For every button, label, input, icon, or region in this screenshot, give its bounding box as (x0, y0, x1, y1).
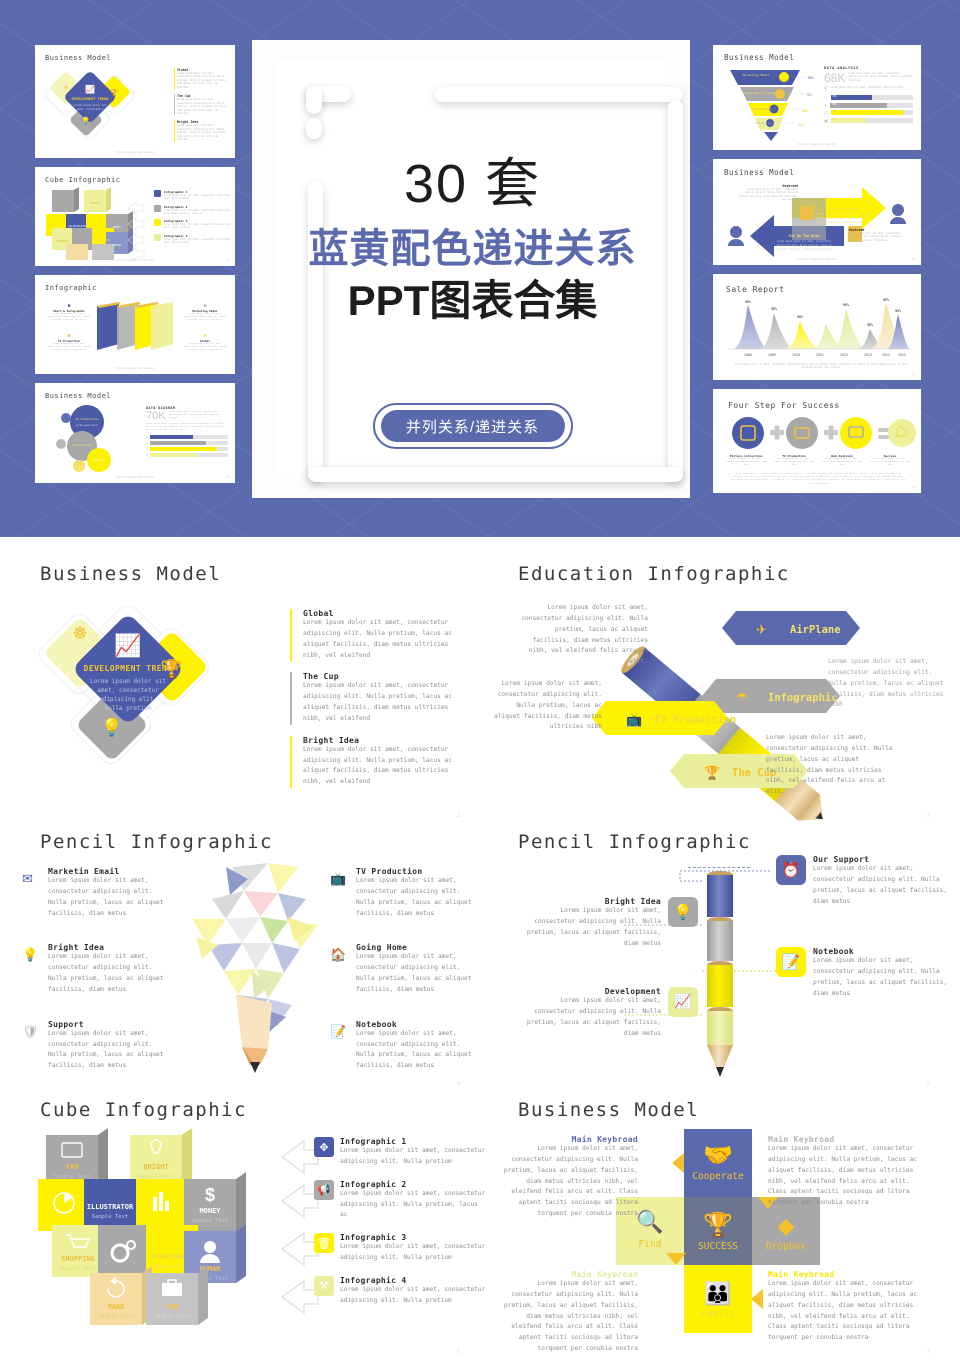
svg-text:💡: 💡 (101, 717, 122, 737)
svg-text:◆: ◆ (778, 1213, 795, 1238)
slide-title: Pencil Infographic (40, 831, 273, 853)
slide-pencil-triangles[interactable]: Pencil Infographic (18, 825, 488, 1093)
item-body: Lorem ipsum dolor sit amet, consectetur … (768, 1279, 926, 1344)
envelope-icon: ✉ (22, 871, 33, 887)
thumbnail-page-number: 2 (228, 150, 230, 154)
svg-text:40%: 40% (798, 123, 804, 127)
hero-text-block: 30 套 蓝黄配色递进关系 PPT图表合集 (275, 155, 670, 327)
bullet-item: The Cup Lorem ipsum dolor sit amet, cons… (290, 672, 455, 724)
item-head: Our Support (813, 855, 956, 864)
item-head: Bright Idea (48, 943, 172, 952)
svg-text:PHOTOSHOP: PHOTOSHOP (96, 238, 110, 242)
svg-text:📺: 📺 (626, 712, 642, 727)
quad-text-3: Main Keybroad Lorem ipsum dolor sit amet… (496, 1270, 638, 1355)
svg-text:SHOPPING: SHOPPING (57, 239, 70, 243)
svg-text:70%: 70% (806, 93, 812, 97)
svg-text:Lorem ipsum dolor sit amet, co: Lorem ipsum dolor sit amet, consectetur (817, 213, 872, 216)
slide3-right-items: 📺 TV Production Lorem ipsum dolor sit am… (330, 867, 480, 1072)
svg-text:📈: 📈 (114, 633, 141, 658)
item-head: Main Keybroad (496, 1135, 638, 1144)
thumbnail-arrows[interactable]: Business Model Put On The Note Lorem ips… (713, 159, 921, 265)
thumbnail-title: Business Model (45, 54, 111, 62)
slide-title: Education Infographic (518, 563, 790, 585)
svg-text:95%: 95% (883, 298, 889, 302)
frame-bar-right (668, 100, 683, 482)
thumbnail-page-number: 24 (912, 485, 915, 489)
svg-text:Social Media: Social Media (72, 443, 93, 447)
svg-text:TV Production: TV Production (654, 714, 736, 726)
item-head: Going Home (356, 943, 480, 952)
item-development: Development Lorem ipsum dolor sit amet, … (520, 987, 698, 1039)
slide-page-number: 6 (457, 1349, 460, 1355)
svg-text:SUCCESS: SUCCESS (698, 1241, 738, 1252)
svg-text:Sample Text: Sample Text (98, 1314, 134, 1320)
bullet-body: Lorem ipsum dolor sit amet, consectetur … (303, 681, 455, 724)
svg-text:95%: 95% (867, 323, 873, 327)
svg-text:2015: 2015 (898, 353, 906, 357)
thumbnail-column-left: Business Model DEVELOPMENT TREND Lorem i… (35, 45, 235, 492)
item-body: Lorem ipsum dolor sit amet, consectetur … (496, 1144, 638, 1220)
home-icon: 🏠 (330, 947, 346, 963)
svg-text:☸: ☸ (72, 624, 87, 643)
svg-text:2013: 2013 (864, 353, 872, 357)
item-head: Notebook (813, 947, 956, 956)
bullet-item: Bright Idea Lorem ipsum dolor sit amet, … (290, 736, 455, 788)
svg-text:SHOPPING: SHOPPING (61, 1255, 95, 1263)
slide-title: Business Model (518, 1099, 699, 1121)
svg-text:95%: 95% (745, 300, 751, 304)
item-body: Lorem ipsum dolor sit amet, consectetur … (813, 864, 956, 907)
svg-text:Support: Support (94, 458, 105, 462)
svg-text:95%: 95% (843, 303, 849, 307)
svg-text:TV Production: TV Production (752, 107, 773, 111)
svg-text:Marketing Email: Marketing Email (742, 73, 769, 77)
thumbnail-title: Sale Report (726, 285, 784, 294)
tools-icon: ⚒ (314, 1276, 334, 1296)
cube-tab-2: TAB Sample Text (146, 1266, 208, 1325)
svg-text:Sample Text: Sample Text (60, 1266, 96, 1272)
hero-pill-label: 并列关系/递进关系 (381, 410, 565, 442)
svg-text:90%: 90% (808, 76, 814, 80)
hero-line-2: 蓝黄配色递进关系 (275, 224, 670, 274)
svg-text:adipiscing elit. Nulla pretium: adipiscing elit. Nulla pretium, lacus ac (816, 217, 872, 220)
banner-text-tv: Lorem ipsum dolor sit amet, consectetur … (490, 679, 602, 733)
svg-text:2012: 2012 (840, 353, 848, 357)
thumbnail-footer: Click To Change Your Sub Title (36, 259, 234, 262)
notebook-icon: 📝 (330, 1024, 346, 1040)
hero-banner: Business Model DEVELOPMENT TREND Lorem i… (0, 0, 960, 537)
slide-page-number: 4 (457, 1081, 460, 1087)
thumbnail-footer: Click To Change Your Sub Title (714, 143, 920, 146)
slide-page-number: 2 (457, 813, 460, 819)
svg-text:✈: ✈ (756, 622, 767, 637)
item-head: Infographic 1 (340, 1137, 486, 1146)
svg-text:🤝: 🤝 (703, 1143, 733, 1169)
frame-bar-bottom (308, 467, 683, 482)
svg-text:Lorem ipsum dolor sit amet, co: Lorem ipsum dolor sit amet, consectetur (777, 240, 832, 243)
svg-text:Sample Text: Sample Text (154, 1314, 190, 1320)
svg-text:Lorem ipsum dolor sit: Lorem ipsum dolor sit (90, 678, 166, 685)
diamond-cluster-mini: DEVELOPMENT TREND Lorem ipsum dolor sit … (44, 64, 164, 149)
svg-text:MONEY: MONEY (113, 225, 121, 229)
notebook-icon: 📝 (776, 947, 806, 977)
svg-text:☀: ☀ (63, 84, 69, 92)
item-body: Lorem ipsum dolor sit amet, consectetur … (768, 1144, 926, 1209)
banner-text-airplane: Lorem ipsum dolor sit amet, consectetur … (518, 603, 648, 668)
svg-text:🏆: 🏆 (704, 765, 720, 780)
item-body: Lorem ipsum dolor sit amet, consectetur … (340, 1146, 486, 1168)
list-item: 🗑 Infographic 3 Lorem ipsum dolor sit am… (314, 1233, 486, 1264)
thumbnail-title: Infographic (45, 284, 97, 292)
four-steps-mini (726, 416, 912, 452)
svg-text:aliquet facilisis, diam metus: aliquet facilisis, diam metus ultricies (777, 248, 832, 251)
svg-text:Find: Find (639, 1239, 662, 1250)
svg-text:BRIGHT: BRIGHT (143, 1163, 168, 1171)
thumbnail-page-number: 21 (912, 372, 915, 376)
slide1-bullet-list: Global Lorem ipsum dolor sit amet, conse… (290, 609, 455, 799)
svg-text:DEVELOPMENT TREND: DEVELOPMENT TREND (72, 97, 109, 101)
hero-pill-outline[interactable]: 并列关系/递进关系 (373, 403, 573, 449)
stacked-pages-mini (91, 300, 186, 360)
item-head: Main Keybroad (768, 1270, 926, 1279)
item-body: Lorem ipsum dolor sit amet, consectetur … (48, 952, 172, 995)
item-head: Main Keybroad (768, 1135, 926, 1144)
corner-dot-icon (306, 118, 322, 139)
svg-text:adipiscing elit.: adipiscing elit. (99, 696, 157, 703)
svg-text:adipiscing elit. Nulla pretium: adipiscing elit. Nulla pretium, lacus ac (776, 244, 832, 247)
svg-text:BRIGHT: BRIGHT (90, 201, 100, 205)
thumbnail-title: Business Model (724, 168, 794, 177)
thumbnail-four-steps[interactable]: Four Step For Success Picture Collection… (713, 389, 921, 493)
svg-text:📈: 📈 (85, 84, 95, 94)
tv-icon: 📺 (330, 871, 346, 887)
svg-text:AirPlane: AirPlane (790, 624, 841, 636)
svg-text:🏆: 🏆 (110, 88, 119, 97)
thumbnail-page-number: 6 (228, 258, 230, 262)
svg-text:$: $ (205, 1185, 215, 1205)
quad-text-4: Main Keybroad Lorem ipsum dolor sit amet… (768, 1270, 926, 1344)
hero-line-3: PPT图表合集 (275, 276, 670, 326)
svg-text:amet, consectetur: amet, consectetur (97, 687, 159, 694)
thumbnail-page-number: 13 (226, 475, 229, 479)
cube-bright: BRIGHT Sample Text (130, 1128, 192, 1187)
bullet-body: Lorem ipsum dolor sit amet, consectetur … (303, 618, 455, 661)
diamond-cluster: ☸ 🏆 💡 📈 DEVELOPMENT TREND Lorem ipsum do… (36, 593, 286, 808)
thumbnail-page-number: 11 (226, 366, 229, 370)
frame-bar-top (435, 87, 683, 102)
svg-text:Family: Family (701, 1309, 736, 1320)
svg-text:Bright Idea: Bright Idea (756, 122, 772, 125)
svg-text:Dropbox: Dropbox (766, 1241, 806, 1252)
cube-grid: TAB Sample Text BRIGHT Sample Text ILLUS… (36, 1131, 266, 1341)
thumbnail-cube-infographic[interactable]: Cube Infographic TAB (35, 167, 235, 266)
item-our-support: ⏰ Our Support Lorem ipsum dolor sit amet… (776, 855, 956, 907)
svg-text:95%: 95% (797, 315, 803, 319)
svg-text:95%: 95% (895, 309, 901, 313)
list-item: 📢 Infographic 2 Lorem ipsum dolor sit am… (314, 1180, 486, 1222)
svg-text:Put On The Note: Put On The Note (829, 207, 860, 211)
thumbnail-funnel[interactable]: Business Model Marketing Email Infograph… (713, 45, 921, 150)
cube-tab-1: TAB Sample Text (46, 1128, 108, 1187)
slide5-items: ✥ Infographic 1 Lorem ipsum dolor sit am… (314, 1137, 486, 1307)
list-item: ⚒ Infographic 4 Lorem ipsum dolor sit am… (314, 1276, 486, 1307)
slide-page-number: 3 (927, 813, 930, 819)
bullet-item: Global Lorem ipsum dolor sit amet, conse… (290, 609, 455, 661)
svg-text:Infographic & Chart: Infographic & Chart (743, 91, 775, 95)
thumbnail-business-model-1[interactable]: Business Model DEVELOPMENT TREND Lorem i… (35, 45, 235, 158)
bullet-body: Lorem ipsum dolor sit amet, consectetur … (303, 745, 455, 788)
cube-illustrator: ILLUSTRATOR Sample Text (84, 1179, 136, 1231)
bulb-icon: 💡 (668, 897, 698, 927)
slides-gallery: Business Model ☸ 🏆 💡 📈 DEVELOPMENT TREND… (0, 537, 960, 1352)
slide-business-model-quadrant[interactable]: Business Model 🤝 Cooperate 🔍 Find 🏆 SUCC… (488, 1093, 958, 1361)
svg-text:TAB: TAB (61, 201, 66, 205)
stat-value: 70K (146, 411, 166, 422)
item-body: Lorem ipsum dolor sit amet, consectetur … (356, 952, 480, 995)
item-body: Lorem ipsum dolor sit amet, consectetur … (48, 1029, 172, 1072)
item-head: Infographic 2 (340, 1180, 486, 1189)
item-head: Notebook (356, 1020, 480, 1029)
item-body: Lorem ipsum dolor sit amet, consectetur … (520, 996, 661, 1039)
svg-text:Lorem ipsum dolor sit: Lorem ipsum dolor sit (74, 103, 107, 107)
slide-education-infographic[interactable]: Education Infographic ✈ Air (488, 557, 958, 825)
svg-text:Sample Text: Sample Text (192, 1218, 228, 1224)
thumbnail-footer: Click To Change Your Sub Title (36, 367, 234, 370)
circle-cluster-mini: TV Production Lorem ipsum dolor Social M… (44, 404, 136, 476)
svg-text:2014: 2014 (882, 353, 890, 357)
slide3-left-items: ✉ Marketin Email Lorem ipsum dolor sit a… (22, 867, 172, 1072)
banner-text-infographic: Lorem ipsum dolor sit amet, consectetur … (828, 657, 950, 711)
item-head: Development (520, 987, 661, 996)
thumbnail-title: Business Model (45, 392, 111, 400)
trash-icon: 🗑 (314, 1233, 334, 1253)
svg-text:ILLUSTRATOR: ILLUSTRATOR (87, 1203, 134, 1211)
svg-text:Sample Text: Sample Text (92, 1214, 128, 1220)
thumbnail-page-number: 18 (912, 257, 915, 261)
item-body: Lorem ipsum dolor sit amet, consectetur … (496, 1279, 638, 1355)
thumbnail-title: Cube Infographic (45, 176, 120, 184)
svg-text:Nulla pretium: Nulla pretium (105, 705, 152, 712)
svg-text:DEVELOPMENT TREND: DEVELOPMENT TREND (84, 664, 173, 673)
svg-text:2011: 2011 (816, 353, 824, 357)
chart-caption: Lorem ipsum dolor sit amet, consectetur … (734, 363, 908, 370)
quad-text-1: Main Keybroad Lorem ipsum dolor sit amet… (496, 1135, 638, 1220)
quad-text-2: Main Keybroad Lorem ipsum dolor sit amet… (768, 1135, 926, 1209)
thumbnail-footer: Click To Change Your Sub Title (36, 151, 234, 154)
item-head: TV Production (356, 867, 480, 876)
cube-shopping: SHOPPING Sample Text (52, 1225, 104, 1277)
svg-text:ILLUSTRATOR: ILLUSTRATOR (68, 224, 86, 228)
stat-value: 68K (824, 72, 845, 84)
svg-text:🏆: 🏆 (703, 1211, 733, 1239)
item-notebook: 📝 Notebook Lorem ipsum dolor sit amet, c… (776, 947, 956, 999)
item-head: Support (48, 1020, 172, 1029)
slide-cube-infographic[interactable]: Cube Infographic TAB Sample Text BRIGHT … (18, 1093, 488, 1361)
thumbnail-page-number: 14 (912, 142, 915, 146)
item-body: Lorem ipsum dolor sit amet, consectetur … (813, 956, 956, 999)
triangle-burst-pencil (168, 859, 348, 1064)
bulb-icon: 💡 (22, 947, 38, 963)
growth-icon: 📈 (668, 987, 698, 1017)
item-body: Lorem ipsum dolor sit amet, consectetur … (340, 1242, 486, 1264)
svg-text:💡: 💡 (82, 116, 91, 125)
svg-text:HUMAN: HUMAN (113, 243, 121, 247)
svg-text:TAB: TAB (166, 1303, 179, 1311)
spike-chart-mini: 2008200920102011 2012201320142015 95%95%… (724, 299, 912, 361)
svg-text:2009: 2009 (768, 353, 776, 357)
item-head: Infographic 3 (340, 1233, 486, 1242)
clock-icon: ⏰ (776, 855, 806, 885)
slide-pencil-vertical[interactable]: Pencil Infographic (488, 825, 958, 1093)
svg-text:Lorem ipsum dolor: Lorem ipsum dolor (76, 424, 99, 427)
thumbnail-infographic-pages[interactable]: Infographic ■ Chart & Infographic Lorem … (35, 275, 235, 374)
svg-text:Put On The Note: Put On The Note (789, 234, 820, 238)
item-body: Lorem ipsum dolor sit amet, consectetur … (340, 1285, 486, 1307)
thumbnail-title: Business Model (724, 53, 794, 62)
item-head: Bright Idea (520, 897, 661, 906)
megaphone-icon: 📢 (314, 1180, 334, 1200)
item-head: Marketin Email (48, 867, 172, 876)
svg-text:TV Production: TV Production (75, 417, 99, 421)
item-body: Lorem ipsum dolor sit amet, consectetur … (520, 906, 661, 949)
banner-infographic: ☂ Infographic (702, 679, 840, 713)
banner-airplane: ✈ AirPlane (722, 611, 860, 645)
cube-money: $ MONEY Sample Text (184, 1172, 246, 1231)
bullet-head: Global (303, 609, 455, 618)
svg-text:TAB: TAB (66, 1163, 79, 1171)
svg-text:👪: 👪 (704, 1281, 731, 1306)
slide-title: Business Model (40, 563, 221, 585)
slide-title: Cube Infographic (40, 1099, 247, 1121)
svg-text:🔍: 🔍 (636, 1207, 663, 1234)
shield-icon: 🛡 (22, 1024, 39, 1040)
item-head: Infographic 4 (340, 1276, 486, 1285)
thumbnail-footer: Click To Change Your Sub Title (714, 258, 920, 261)
banner-tv-production: 📺 TV Production (592, 701, 736, 735)
item-head: Main Keybroad (496, 1270, 638, 1279)
svg-text:amet, consectetur: amet, consectetur (77, 107, 104, 111)
banner-text-cup: Lorem ipsum dolor sit amet, consectetur … (766, 733, 898, 798)
svg-text:95%: 95% (771, 307, 777, 311)
thumbnail-title: Four Step For Success (728, 401, 840, 410)
svg-text:2010: 2010 (792, 353, 800, 357)
thumbnail-column-right: Business Model Marketing Email Infograph… (713, 45, 921, 502)
svg-text:Cooperate: Cooperate (692, 1171, 744, 1182)
item-body: Lorem ipsum dolor sit amet, consectetur … (356, 1029, 480, 1072)
svg-text:☂: ☂ (736, 690, 748, 705)
stat-title: DATA ANALYSIS (824, 66, 913, 70)
corner-bracket-stem-icon (306, 86, 322, 114)
move-icon: ✥ (314, 1137, 334, 1157)
thumbnail-footer: Click To Change Your Sub Title (36, 476, 234, 479)
svg-text:aliquet facilisis, diam metus: aliquet facilisis, diam metus ultricies (817, 221, 872, 224)
slide-title: Pencil Infographic (518, 831, 751, 853)
slide-page-number: 5 (927, 1081, 930, 1087)
item-bright-idea: Bright Idea Lorem ipsum dolor sit amet, … (520, 897, 698, 949)
svg-text:MAKE: MAKE (108, 1303, 125, 1311)
item-body: Lorem ipsum dolor sit amet, consectetur … (48, 876, 172, 919)
list-item: ✥ Infographic 1 Lorem ipsum dolor sit am… (314, 1137, 486, 1168)
hero-title-panel: 30 套 蓝黄配色递进关系 PPT图表合集 并列关系/递进关系 (252, 40, 690, 498)
svg-text:2008: 2008 (744, 353, 752, 357)
item-body: Lorem ipsum dolor sit amet, consectetur … (340, 1189, 486, 1222)
cube-pie (38, 1179, 90, 1231)
hero-inner-card: 30 套 蓝黄配色递进关系 PPT图表合集 并列关系/递进关系 (275, 60, 670, 478)
slide-business-model-diamonds[interactable]: Business Model ☸ 🏆 💡 📈 DEVELOPMENT TREND… (18, 557, 488, 825)
cube-gear (98, 1225, 150, 1277)
item-body: Lorem ipsum dolor sit amet, consectetur … (356, 876, 480, 919)
thumbnail-business-model-2[interactable]: Business Model TV Production Lorem ipsum… (35, 383, 235, 483)
thumbnail-sale-report[interactable]: Sale Report (713, 274, 921, 380)
cube-grid-mini: TAB BRIGHT ILLUSTRATOR MONEY SHOPPING PH… (44, 188, 154, 260)
svg-text:MONEY: MONEY (199, 1207, 221, 1215)
cube-photoshop-top (136, 1179, 188, 1231)
slide-page-number: 7 (927, 1349, 930, 1355)
cube-make: MAKE Sample Text (90, 1266, 152, 1325)
hero-line-1: 30 套 (275, 155, 670, 214)
svg-text:50%: 50% (802, 109, 808, 113)
bullet-head: Bright Idea (303, 736, 455, 745)
funnel-mini: Marketing Email Infographic & Chart TV P… (726, 66, 818, 141)
bullet-head: The Cup (303, 672, 455, 681)
